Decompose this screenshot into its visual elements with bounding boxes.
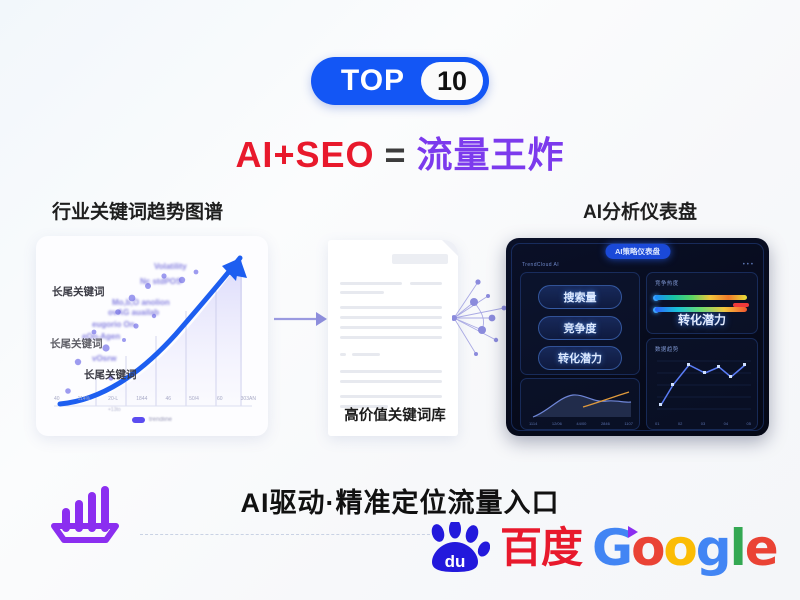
- dashboard-trend-panel: 数据趋势 01 02 03 04: [646, 338, 758, 430]
- title-ai-seo: AI+SEO: [235, 134, 374, 175]
- google-letter-o2: o: [663, 519, 695, 577]
- google-letter-g: g: [696, 519, 730, 577]
- blur-label-0: Volatility: [154, 262, 187, 271]
- area-x-tick-0: 1114: [529, 421, 537, 426]
- legend-swatch: [132, 417, 145, 423]
- trend-x-tick-4: 05: [747, 421, 751, 426]
- area-x-tick-1: 12/06: [552, 421, 562, 426]
- bar-chart-icon: [48, 482, 122, 544]
- top-badge-number: 10: [421, 62, 483, 100]
- keyword-label-1: 长尾关键词: [52, 284, 105, 299]
- metric-pill-search-volume[interactable]: 搜索量: [538, 285, 622, 309]
- doc-line: [340, 291, 384, 294]
- trend-panel-chart: [647, 351, 757, 423]
- area-x-tick-4: 1107: [624, 421, 633, 426]
- area-x-tick-2: 44/00: [576, 421, 586, 426]
- search-engine-logos: du 百度 Google: [424, 522, 777, 574]
- doc-line: [340, 336, 442, 339]
- baidu-latin-text: du: [445, 552, 466, 571]
- x-tick-6: 60: [217, 396, 223, 402]
- dashboard-metrics-panel: 搜索量 竞争度 转化潜力: [520, 272, 640, 375]
- blur-label-4: eugorio On: [92, 320, 135, 329]
- dashboard-heat-panel: 竞争热度 转化潜力: [646, 272, 758, 334]
- caption-left: 行业关键词趋势图谱: [52, 197, 223, 224]
- x-tick-1: 114%: [78, 396, 90, 402]
- x-axis-note: +13to: [108, 407, 121, 413]
- blur-label-1: Nc stdPOS: [140, 277, 181, 286]
- doc-line: [410, 282, 442, 285]
- x-tick-4: 46: [166, 396, 172, 402]
- metric-pill-competition[interactable]: 竞争度: [538, 316, 622, 340]
- blur-label-3: ovAG auailab: [108, 308, 159, 317]
- infographic-canvas: TOP 10 AI+SEO=流量王炸 行业关键词趋势图谱 AI分析仪表盘: [0, 0, 800, 600]
- document-label: 高价值关键词库: [330, 404, 460, 425]
- baidu-chinese-text: 百度: [500, 527, 582, 569]
- doc-line: [340, 370, 442, 373]
- doc-line: [340, 306, 442, 309]
- doc-line: [340, 380, 442, 383]
- top-rank-badge: TOP 10: [311, 57, 489, 105]
- legend-label: trendline: [149, 417, 172, 423]
- page-title: AI+SEO=流量王炸: [0, 126, 800, 178]
- flow-arrow-icon: [272, 306, 328, 332]
- blur-label-2: Mo,b,O anolion: [112, 298, 170, 307]
- trend-x-tick-0: 01: [655, 421, 659, 426]
- trend-x-tick-2: 03: [701, 421, 705, 426]
- heat-panel-title: 竞争热度: [655, 279, 679, 287]
- doc-line: [340, 316, 442, 319]
- keyword-label-2: 长尾关键词: [50, 336, 103, 351]
- document-header-block: [392, 254, 448, 264]
- trend-x-tick-1: 02: [678, 421, 682, 426]
- metric-pill-conversion[interactable]: 转化潜力: [538, 346, 622, 370]
- play-triangle-icon: [624, 524, 640, 540]
- google-wordmark: Google: [592, 523, 777, 573]
- trend-x-tick-3: 04: [724, 421, 728, 426]
- google-letter-e: e: [745, 519, 777, 577]
- x-tick-3: 1844: [136, 396, 147, 402]
- top-badge-label: TOP: [317, 64, 421, 98]
- keyword-trend-chart-card: Volatility Nc stdPOS Mo,b,O anolion ovAG…: [36, 236, 268, 436]
- area-chart-svg: [521, 381, 639, 421]
- heat-panel-overlay-label: 转化潜力: [647, 311, 757, 328]
- doc-line: [340, 282, 402, 285]
- chart-x-axis: 40 114% 20-L 1844 46 50/4 60 303AN: [54, 396, 256, 402]
- area-x-tick-3: 2846: [601, 421, 610, 426]
- doc-line: [340, 326, 442, 329]
- dashboard-subtitle: TrendCloud AI: [522, 262, 559, 268]
- ai-dashboard-panel: AI策略仪表盘 TrendCloud AI ••• 搜索量 竞争度 转化潜力 竞…: [506, 238, 769, 436]
- blur-label-6: vOsrw: [92, 354, 116, 363]
- title-traffic: 流量王炸: [417, 134, 565, 175]
- dashboard-title-badge: AI策略仪表盘: [605, 244, 670, 259]
- doc-line: [340, 353, 346, 356]
- footer-divider: [140, 534, 440, 535]
- area-chart-x-axis: 1114 12/06 44/00 2846 1107: [529, 421, 633, 426]
- x-tick-2: 20-L: [108, 396, 118, 402]
- caption-right: AI分析仪表盘: [583, 197, 697, 224]
- x-tick-5: 50/4: [189, 396, 199, 402]
- dashboard-area-chart-panel: 1114 12/06 44/00 2846 1107: [520, 378, 640, 430]
- google-letter-l: l: [730, 519, 745, 577]
- title-equals: =: [385, 134, 407, 175]
- heat-gradient-bar-1: [655, 295, 747, 300]
- heat-marker-chip: [733, 303, 749, 307]
- baidu-paw-icon: du: [424, 522, 490, 574]
- dashboard-menu-dots-icon[interactable]: •••: [743, 262, 755, 268]
- x-tick-0: 40: [54, 396, 60, 402]
- x-tick-7: 303AN: [241, 396, 256, 402]
- chart-legend: trendline: [132, 417, 172, 423]
- node-network-graphic: [452, 268, 512, 368]
- doc-line: [352, 353, 380, 356]
- doc-line: [340, 395, 442, 398]
- trend-panel-x-axis: 01 02 03 04 05: [655, 421, 751, 426]
- keyword-label-3: 长尾关键词: [84, 367, 137, 382]
